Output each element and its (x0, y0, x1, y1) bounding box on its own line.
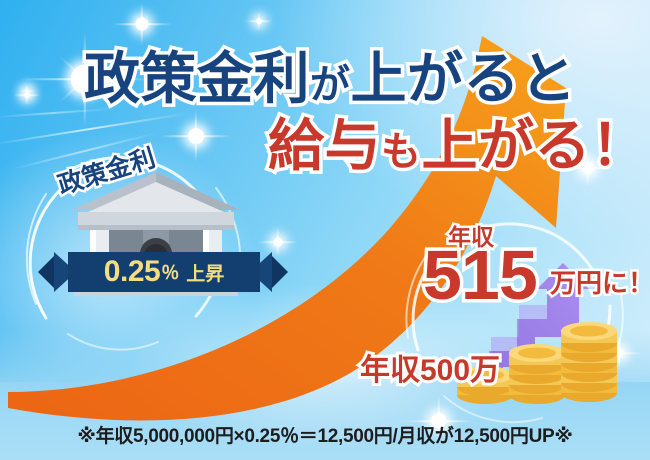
footnote-caption: ※年収5,000,000円×0.25％＝12,500円/月収が12,500円UP… (0, 421, 650, 448)
income-base-label: 年収500万 (360, 345, 500, 389)
headline-line2-main: 給与 (268, 114, 381, 177)
coin-stack-medium (509, 344, 565, 404)
rate-percent-symbol: ％ (161, 259, 179, 285)
rate-increase-suffix: 上昇 (186, 259, 224, 286)
headline-line2-particle: も (381, 130, 422, 174)
income-result-unit: 万円に！ (550, 263, 650, 300)
rate-increase-ribbon: 0.25％上昇 (38, 248, 288, 298)
income-result-block: 年収 515 万円に！ (398, 218, 650, 338)
rate-value: 0.25 (104, 255, 160, 289)
infographic-poster: 政策金利が上がると 給与も上がる！ (0, 0, 650, 460)
income-result-amount: 515 (423, 240, 537, 310)
headline-line2-tail: 上がる！ (422, 114, 648, 177)
headline-line-2: 給与も上がる！ (268, 101, 648, 182)
rate-increase-value: 0.25％上昇 (68, 252, 260, 292)
